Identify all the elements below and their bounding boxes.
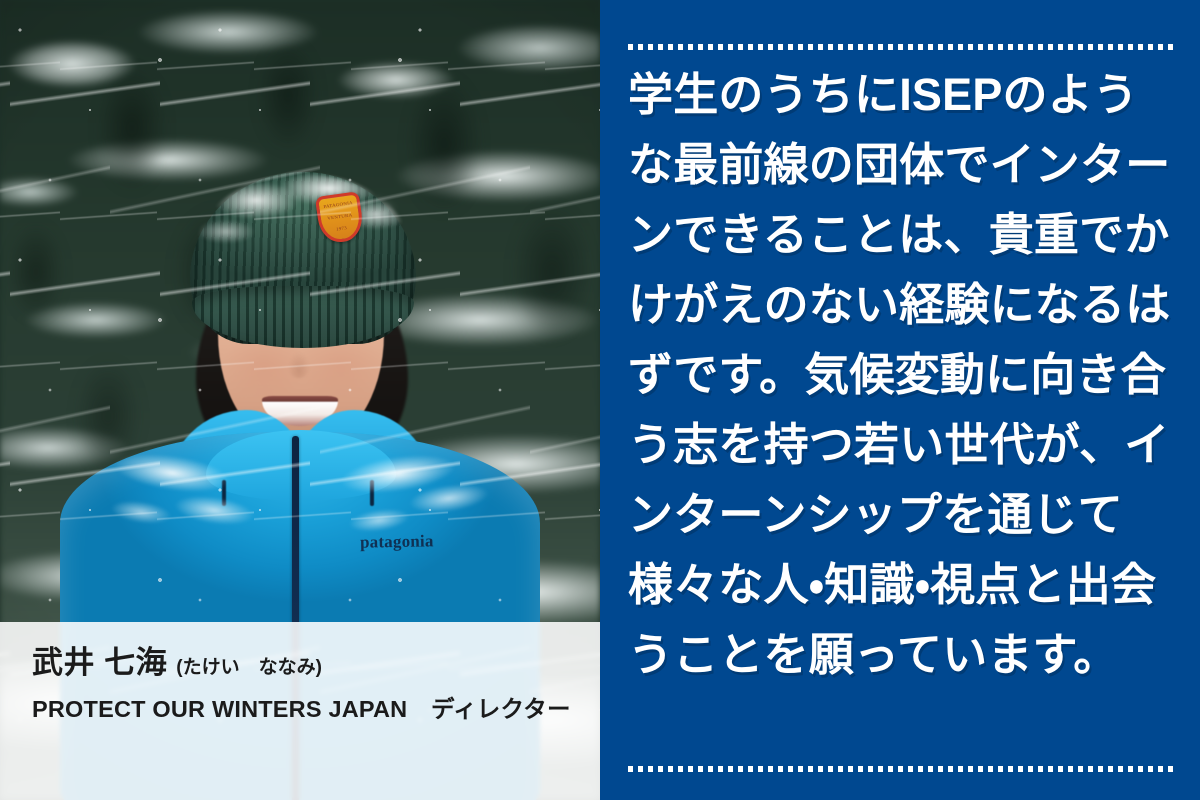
nose bbox=[288, 352, 310, 378]
quote-card: PATAGONIA VENTURA 1973 patagonia 武井 七海 (… bbox=[0, 0, 1200, 800]
quote-panel: 学生のうちにISEPのような最前線の団体でインターンできることは、貴重でかけがえ… bbox=[600, 0, 1200, 800]
person-name-kanji: 武井 七海 bbox=[32, 645, 167, 680]
hat-patch-line-3: 1973 bbox=[322, 224, 361, 236]
dotted-divider-bottom bbox=[628, 766, 1176, 772]
caption-overlay: 武井 七海 (たけい ななみ) PROTECT OUR WINTERS JAPA… bbox=[0, 622, 600, 800]
dotted-divider-top bbox=[628, 44, 1176, 50]
person-role: PROTECT OUR WINTERS JAPAN ディレクター bbox=[32, 690, 600, 724]
hat-patch-line-2: VENTURA bbox=[321, 212, 360, 224]
hat-patch-line-1: PATAGONIA bbox=[319, 200, 358, 212]
patagonia-jacket-logo: patagonia bbox=[360, 531, 434, 552]
person-name-reading: (たけい ななみ) bbox=[176, 657, 322, 678]
jacket-pocket-zip-left bbox=[222, 480, 226, 506]
portrait-photo: PATAGONIA VENTURA 1973 patagonia 武井 七海 (… bbox=[0, 0, 600, 800]
jacket-pocket-zip-right bbox=[370, 480, 374, 506]
quote-body-text: 学生のうちにISEPのような最前線の団体でインターンできることは、貴重でかけがえ… bbox=[628, 60, 1176, 690]
person-name: 武井 七海 (たけい ななみ) bbox=[32, 646, 600, 681]
